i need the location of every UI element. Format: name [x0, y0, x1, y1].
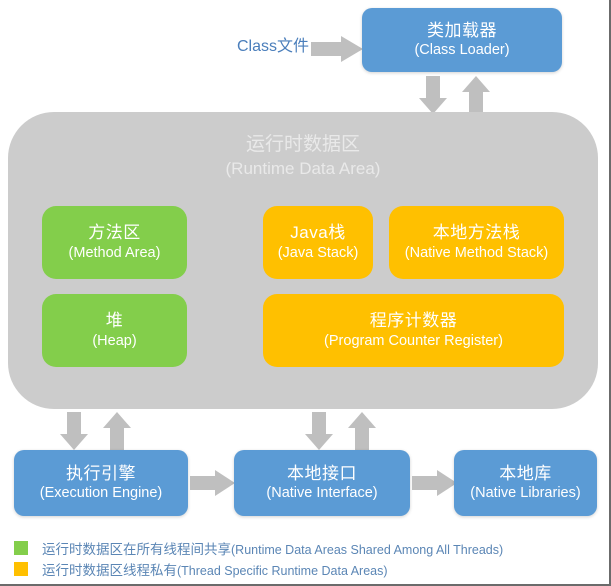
runtime-data-area-container: 运行时数据区 (Runtime Data Area) 方法区 (Method A… — [8, 112, 598, 409]
node-heap-cn: 堆 — [106, 311, 124, 331]
node-native-method-stack-cn: 本地方法栈 — [433, 223, 521, 243]
node-native-libraries-cn: 本地库 — [499, 464, 552, 484]
node-class-loader-en: (Class Loader) — [414, 42, 509, 59]
node-execution-engine-en: (Execution Engine) — [40, 485, 163, 502]
legend-label-private-cn: 运行时数据区线程私有 — [42, 563, 177, 578]
runtime-data-area-title-en: (Runtime Data Area) — [8, 159, 598, 179]
arrow-execution-engine-to-native-interface — [190, 470, 235, 496]
legend-swatch-orange — [14, 562, 28, 576]
arrow-runtime-to-native-interface-down — [305, 412, 333, 450]
node-native-method-stack-en: (Native Method Stack) — [405, 245, 548, 262]
node-heap-en: (Heap) — [92, 333, 136, 350]
arrow-classfile-to-classloader — [311, 36, 363, 62]
node-native-libraries[interactable]: 本地库 (Native Libraries) — [454, 450, 597, 516]
legend-label-private: 运行时数据区线程私有(Thread Specific Runtime Data … — [42, 559, 388, 579]
legend-row-shared: 运行时数据区在所有线程间共享(Runtime Data Areas Shared… — [14, 537, 574, 558]
node-method-area-cn: 方法区 — [88, 223, 141, 243]
legend-label-shared-en: (Runtime Data Areas Shared Among All Thr… — [231, 543, 503, 557]
arrow-runtime-to-execution-engine-down — [60, 412, 88, 450]
node-program-counter-register-en: (Program Counter Register) — [324, 333, 503, 350]
node-method-area[interactable]: 方法区 (Method Area) — [42, 206, 187, 279]
node-java-stack-cn: Java栈 — [290, 223, 345, 243]
legend-swatch-green — [14, 541, 28, 555]
node-execution-engine-cn: 执行引擎 — [66, 464, 136, 484]
node-native-interface[interactable]: 本地接口 (Native Interface) — [234, 450, 410, 516]
legend-label-private-en: (Thread Specific Runtime Data Areas) — [177, 564, 388, 578]
node-native-libraries-en: (Native Libraries) — [470, 485, 580, 502]
node-class-loader[interactable]: 类加载器 (Class Loader) — [362, 8, 562, 72]
arrow-native-interface-to-runtime-up — [348, 412, 376, 450]
legend-label-shared: 运行时数据区在所有线程间共享(Runtime Data Areas Shared… — [42, 538, 503, 558]
arrow-runtime-to-classloader-up — [462, 76, 490, 114]
node-method-area-en: (Method Area) — [69, 245, 161, 262]
node-native-interface-en: (Native Interface) — [266, 485, 377, 502]
arrow-native-interface-to-native-libraries — [412, 470, 457, 496]
node-heap[interactable]: 堆 (Heap) — [42, 294, 187, 367]
node-native-interface-cn: 本地接口 — [287, 464, 357, 484]
arrow-classloader-to-runtime-down — [419, 76, 447, 114]
node-program-counter-register-cn: 程序计数器 — [370, 311, 458, 331]
node-execution-engine[interactable]: 执行引擎 (Execution Engine) — [14, 450, 188, 516]
class-file-label: Class文件 — [237, 32, 309, 56]
legend: 运行时数据区在所有线程间共享(Runtime Data Areas Shared… — [14, 537, 574, 579]
node-native-method-stack[interactable]: 本地方法栈 (Native Method Stack) — [389, 206, 564, 279]
jvm-architecture-diagram: Class文件 类加载器 (Class Loader) 运行时数据区 (Runt… — [0, 0, 611, 586]
runtime-data-area-title-cn: 运行时数据区 — [8, 134, 598, 157]
node-java-stack[interactable]: Java栈 (Java Stack) — [263, 206, 373, 279]
node-java-stack-en: (Java Stack) — [278, 245, 359, 262]
legend-label-shared-cn: 运行时数据区在所有线程间共享 — [42, 542, 231, 557]
legend-row-private: 运行时数据区线程私有(Thread Specific Runtime Data … — [14, 558, 574, 579]
node-class-loader-cn: 类加载器 — [427, 21, 497, 41]
arrow-execution-engine-to-runtime-up — [103, 412, 131, 450]
node-program-counter-register[interactable]: 程序计数器 (Program Counter Register) — [263, 294, 564, 367]
runtime-data-area-title: 运行时数据区 (Runtime Data Area) — [8, 134, 598, 179]
